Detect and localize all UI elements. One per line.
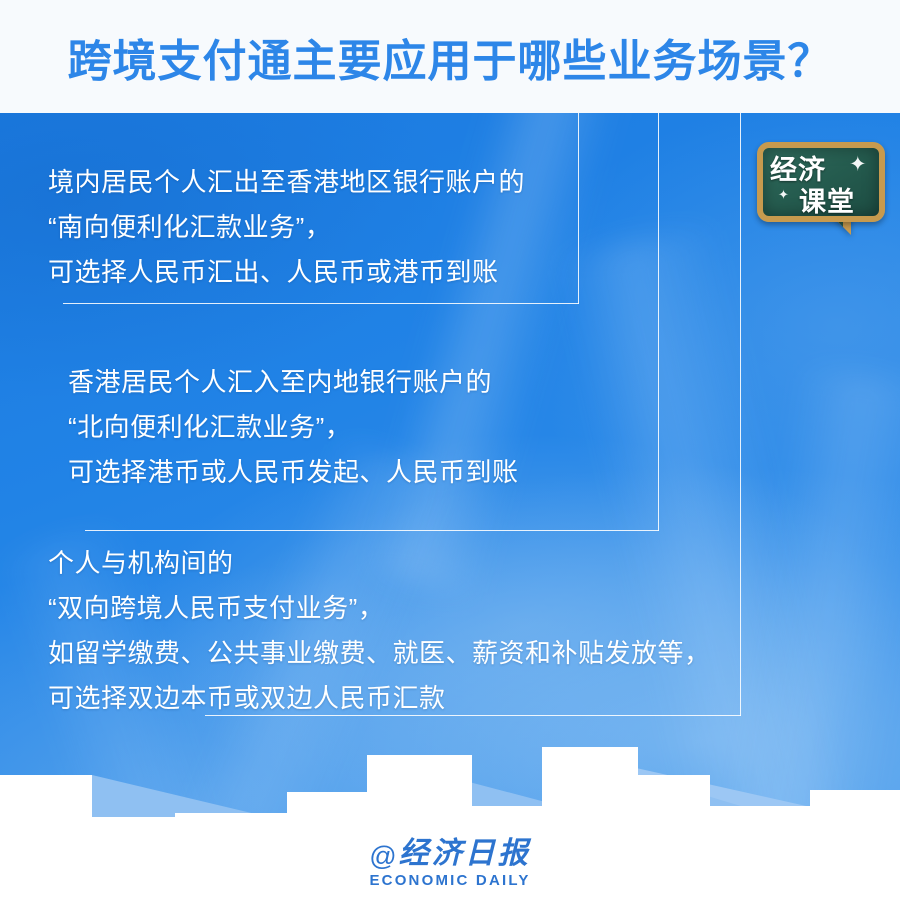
scenario-line: “南向便利化汇款业务”， bbox=[48, 205, 525, 250]
scenario-line: 如留学缴费、公共事业缴费、就医、薪资和补贴发放等， bbox=[48, 631, 711, 676]
scenario-line: “双向跨境人民币支付业务”， bbox=[48, 586, 711, 631]
block-2-divider-horizontal bbox=[85, 530, 659, 531]
scenario-block-southbound: 境内居民个人汇出至香港地区银行账户的 “南向便利化汇款业务”， 可选择人民币汇出… bbox=[48, 160, 525, 295]
scenario-block-northbound: 香港居民个人汇入至内地银行账户的 “北向便利化汇款业务”， 可选择港币或人民币发… bbox=[68, 360, 519, 495]
page-title: 跨境支付通主要应用于哪些业务场景？ bbox=[0, 36, 900, 88]
economic-daily-logo: @经济日报 ECONOMIC DAILY bbox=[0, 839, 900, 888]
footer-band: @经济日报 ECONOMIC DAILY bbox=[0, 827, 900, 900]
sparkle-icon: ✦ bbox=[778, 188, 789, 201]
economics-classroom-badge: ✦ ✦ 经济 课堂 bbox=[757, 142, 885, 234]
brand-name-en: ECONOMIC DAILY bbox=[0, 873, 900, 888]
brand-name-cn: 经济日报 bbox=[399, 837, 531, 870]
main-blue-panel: 境内居民个人汇出至香港地区银行账户的 “南向便利化汇款业务”， 可选择人民币汇出… bbox=[0, 113, 900, 827]
scenario-line: 可选择人民币汇出、人民币或港币到账 bbox=[48, 250, 525, 295]
scenario-line: 可选择港币或人民币发起、人民币到账 bbox=[68, 450, 519, 495]
badge-label-line-1: 经济 bbox=[770, 157, 826, 184]
scenario-line: 可选择双边本币或双边人民币汇款 bbox=[48, 676, 711, 721]
background-sheen-streak bbox=[552, 222, 857, 827]
block-1-divider-horizontal bbox=[63, 303, 579, 304]
badge-label-line-2: 课堂 bbox=[799, 189, 855, 216]
block-1-divider-vertical bbox=[578, 113, 579, 304]
header-band: 跨境支付通主要应用于哪些业务场景？ bbox=[0, 0, 900, 113]
chalkboard-icon: ✦ ✦ 经济 课堂 bbox=[757, 142, 885, 222]
block-3-divider-vertical bbox=[740, 113, 741, 716]
sparkle-icon: ✦ bbox=[849, 154, 867, 175]
scenario-line: “北向便利化汇款业务”， bbox=[68, 405, 519, 450]
skyline-shadows bbox=[0, 747, 900, 827]
scenario-block-two-way-rmb: 个人与机构间的 “双向跨境人民币支付业务”， 如留学缴费、公共事业缴费、就医、薪… bbox=[48, 541, 711, 721]
scenario-line: 境内居民个人汇出至香港地区银行账户的 bbox=[48, 160, 525, 205]
scenario-line: 个人与机构间的 bbox=[48, 541, 711, 586]
infographic-poster: 跨境支付通主要应用于哪些业务场景？ 境内居民个人汇出至香港地区银行账户的 “南向… bbox=[0, 0, 900, 900]
block-2-divider-vertical bbox=[658, 113, 659, 531]
skyline-buildings bbox=[0, 747, 900, 827]
background-sheen-streak bbox=[724, 364, 900, 827]
scenario-line: 香港居民个人汇入至内地银行账户的 bbox=[68, 360, 519, 405]
at-symbol-icon: @ bbox=[369, 841, 396, 871]
